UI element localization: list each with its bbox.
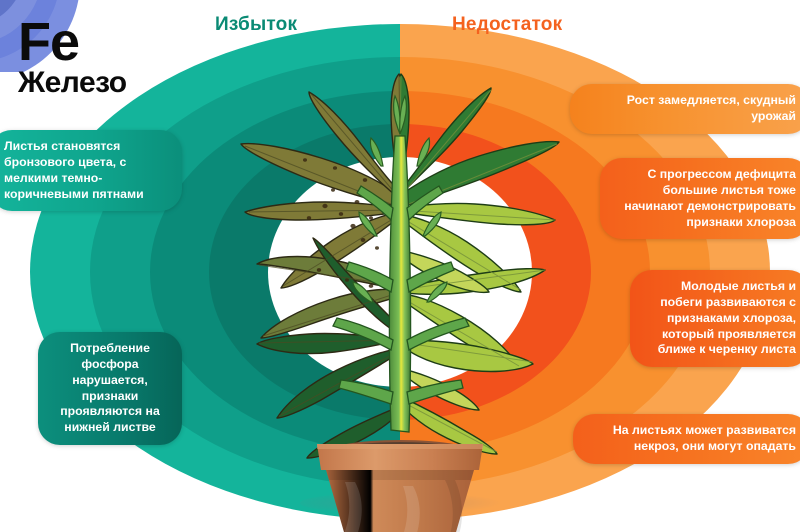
excess-callout-1: Листья становятся бронзового цвета, с ме… xyxy=(0,130,182,211)
deficit-callout-2: С прогрессом дефицита большие листья тож… xyxy=(600,158,800,239)
element-symbol: Fe xyxy=(18,18,127,68)
header-excess: Избыток xyxy=(215,14,297,36)
deficit-callout-4: На листьях может развиватся некроз, они … xyxy=(573,414,800,464)
element-symbol-block: Fe Железо xyxy=(18,18,127,96)
cannabis-plant-illustration xyxy=(205,40,595,532)
header-deficit: Недостаток xyxy=(452,14,562,36)
element-name: Железо xyxy=(18,69,127,97)
deficit-callout-1: Рост замедляется, скудный урожай xyxy=(570,84,800,134)
excess-callout-2: Потребление фосфора нарушается, признаки… xyxy=(38,332,182,445)
plant-pot xyxy=(317,440,483,532)
infographic-canvas: Fe Железо Избыток Недостаток Листья стан… xyxy=(0,0,800,532)
deficit-callout-3: Молодые листья и побеги развиваются с пр… xyxy=(630,270,800,367)
